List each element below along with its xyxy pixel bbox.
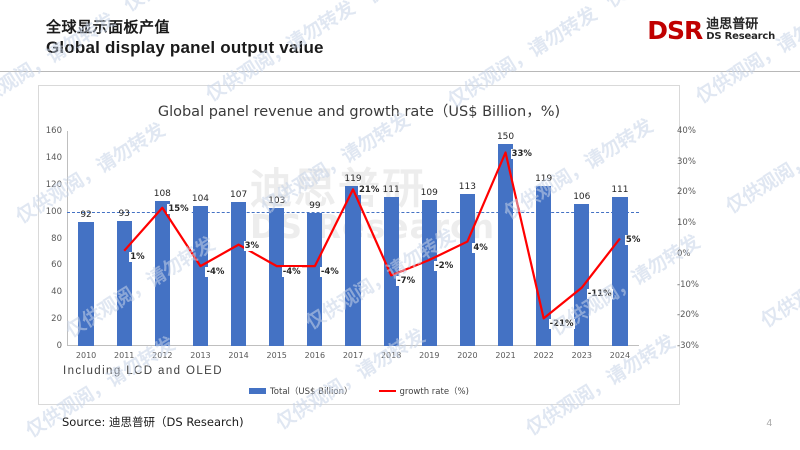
- y-axis-tick-left: 20: [51, 314, 62, 324]
- watermark-text: 仅供观阅，请勿转发: [720, 105, 800, 219]
- y-axis-tick-right: -10%: [677, 280, 699, 290]
- growth-rate-label: -2%: [434, 261, 454, 271]
- legend-swatch-bar-icon: [249, 388, 266, 394]
- x-axis-tick: 2016: [305, 351, 325, 360]
- growth-rate-label: -4%: [320, 267, 340, 277]
- x-axis-tick: 2010: [76, 351, 96, 360]
- logo-text: 迪思普研 DS Research: [706, 18, 775, 42]
- y-axis-tick-left: 140: [46, 153, 62, 163]
- slide: 全球显示面板产值 Global display panel output val…: [0, 0, 800, 450]
- y-axis-tick-right: -30%: [677, 341, 699, 351]
- growth-rate-label: 3%: [244, 241, 260, 251]
- y-axis-tick-right: 0%: [677, 249, 691, 259]
- x-axis-tick: 2013: [190, 351, 210, 360]
- x-axis-tick: 2015: [267, 351, 287, 360]
- growth-rate-label: 21%: [358, 185, 380, 195]
- logo-label-en: DS Research: [706, 32, 775, 43]
- logo-mark: DSR: [647, 18, 702, 43]
- legend-item-total[interactable]: Total（US$ Billion）: [249, 385, 352, 397]
- y-axis-tick-left: 0: [57, 341, 62, 351]
- source-note: Source: 迪思普研（DS Research): [62, 414, 244, 430]
- x-axis-tick: 2019: [419, 351, 439, 360]
- y-axis-tick-left: 60: [51, 260, 62, 270]
- y-axis-tick-left: 100: [46, 207, 62, 217]
- x-axis-tick: 2024: [610, 351, 630, 360]
- page-number: 4: [766, 418, 772, 429]
- growth-rate-label: 1%: [129, 252, 145, 262]
- including-note: Including LCD and OLED: [63, 365, 223, 377]
- page-title-zh: 全球显示面板产值: [46, 16, 170, 37]
- y-axis-tick-left: 160: [46, 126, 62, 136]
- header-divider: [0, 71, 800, 72]
- legend-label-growth: growth rate（%): [400, 385, 469, 397]
- logo-label-cn: 迪思普研: [706, 18, 775, 32]
- y-axis-tick-right: 10%: [677, 218, 696, 228]
- chart-title: Global panel revenue and growth rate（US$…: [39, 100, 679, 121]
- growth-rate-label: 5%: [625, 235, 641, 245]
- x-axis-tick: 2011: [114, 351, 134, 360]
- growth-rate-label: -21%: [549, 319, 575, 329]
- growth-rate-label: -4%: [205, 267, 225, 277]
- chart-plot-area: 020406080100120140160-30%-20%-10%0%10%20…: [67, 131, 639, 346]
- legend-label-total: Total（US$ Billion）: [270, 385, 352, 397]
- x-axis-tick: 2014: [228, 351, 248, 360]
- x-axis-tick: 2017: [343, 351, 363, 360]
- growth-rate-label: 33%: [511, 149, 533, 159]
- chart-container: Global panel revenue and growth rate（US$…: [38, 85, 680, 405]
- x-axis-tick: 2018: [381, 351, 401, 360]
- y-axis-tick-left: 40: [51, 287, 62, 297]
- x-axis-tick: 2021: [495, 351, 515, 360]
- growth-rate-label: -7%: [396, 276, 416, 286]
- watermark-text: 仅供观阅，请勿转发: [755, 219, 800, 333]
- y-axis-tick-right: 40%: [677, 126, 696, 136]
- y-axis-tick-right: -20%: [677, 310, 699, 320]
- growth-rate-label: 15%: [167, 204, 189, 214]
- x-axis-tick: 2012: [152, 351, 172, 360]
- x-axis-tick: 2023: [572, 351, 592, 360]
- x-axis-tick: 2022: [533, 351, 553, 360]
- y-axis-tick-left: 120: [46, 180, 62, 190]
- y-axis-tick-left: 80: [51, 234, 62, 244]
- legend-item-growth[interactable]: growth rate（%): [379, 385, 469, 397]
- growth-rate-label: -11%: [587, 289, 613, 299]
- y-axis-tick-right: 20%: [677, 187, 696, 197]
- growth-rate-label: 4%: [472, 243, 488, 253]
- dsr-logo: DSR 迪思普研 DS Research: [647, 18, 775, 43]
- growth-rate-label: -4%: [282, 267, 302, 277]
- y-axis-tick-right: 30%: [677, 157, 696, 167]
- page-title-en: Global display panel output value: [46, 38, 324, 58]
- growth-rate-line: [67, 131, 639, 346]
- chart-legend: Total（US$ Billion） growth rate（%): [39, 385, 679, 397]
- x-axis-tick: 2020: [457, 351, 477, 360]
- legend-swatch-line-icon: [379, 390, 396, 392]
